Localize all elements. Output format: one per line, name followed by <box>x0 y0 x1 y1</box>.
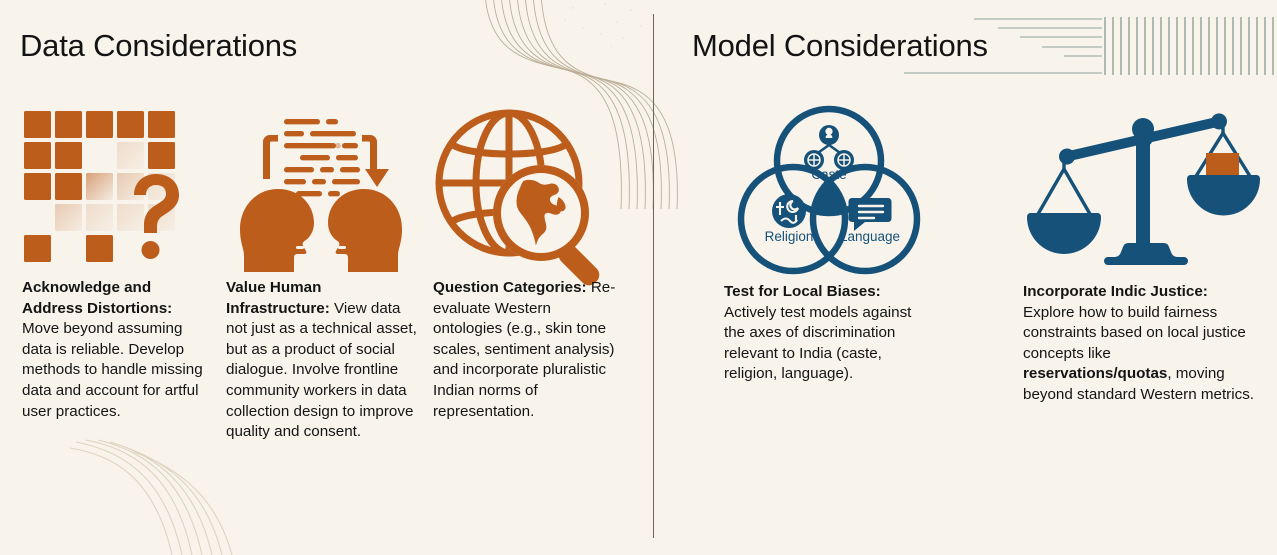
venn-label-religion: Religion <box>765 229 814 244</box>
card-3-icon-box: Caste Religion <box>724 104 934 274</box>
panel-title-model: Model Considerations <box>692 28 988 64</box>
venn-label-caste: Caste <box>811 167 846 182</box>
card-4-text: Incorporate Indic Justice: Explore how t… <box>1023 282 1263 406</box>
decorative-waves-bottom-icon <box>80 440 330 555</box>
two-heads-dialogue-icon <box>226 107 416 272</box>
card-2-text: Question Categories: Re-evaluate Western… <box>433 278 623 422</box>
card-0-lead: Acknowledge and Address Distortions: <box>22 279 172 317</box>
card-4-icon-box <box>1023 104 1263 274</box>
card-1-lead: Value Human Infrastructure: <box>226 279 330 317</box>
card-2-icon-box <box>433 104 623 274</box>
card-0-text: Acknowledge and Address Distortions: Mov… <box>22 278 212 422</box>
globe-magnifier-india-icon <box>433 105 611 273</box>
card-4-body-before: Explore how to build fairness constraint… <box>1023 304 1246 362</box>
card-test-local-biases: Caste Religion <box>724 104 934 385</box>
decorative-lines-right-icon <box>974 6 1277 82</box>
card-3-lead: Test for Local Biases: <box>724 283 881 300</box>
card-2-lead: Question Categories: <box>433 279 587 296</box>
card-1-text: Value Human Infrastructure: View data no… <box>226 278 422 443</box>
card-0-icon-box <box>22 104 212 274</box>
card-3-body: Actively test models against the axes of… <box>724 304 911 383</box>
card-4-body-bold: reservations/quotas <box>1023 365 1167 382</box>
card-4-lead: Incorporate Indic Justice: <box>1023 283 1208 300</box>
card-0-body: Move beyond assuming data is reliable. D… <box>22 320 203 419</box>
card-question-categories: Question Categories: Re-evaluate Western… <box>433 104 623 422</box>
card-2-body: Re-evaluate Western ontologies (e.g., sk… <box>433 279 615 420</box>
panel-title-data: Data Considerations <box>20 28 297 64</box>
venn-label-language: Language <box>840 229 900 244</box>
venn-diagram-bias-axes-icon: Caste Religion <box>731 101 927 277</box>
card-value-human-infrastructure: Value Human Infrastructure: View data no… <box>226 104 422 443</box>
card-incorporate-indic-justice: Incorporate Indic Justice: Explore how t… <box>1023 104 1263 406</box>
panel-divider <box>653 14 654 538</box>
card-1-body: View data not just as a technical asset,… <box>226 300 417 441</box>
balance-scale-icon <box>1046 103 1240 275</box>
card-1-icon-box <box>226 104 422 274</box>
infographic-canvas: Data Considerations Model Considerations <box>0 0 1277 549</box>
pixelated-data-grid-question-icon <box>22 109 192 269</box>
card-acknowledge-distortions: Acknowledge and Address Distortions: Mov… <box>22 104 212 422</box>
card-3-text: Test for Local Biases: Actively test mod… <box>724 282 934 385</box>
